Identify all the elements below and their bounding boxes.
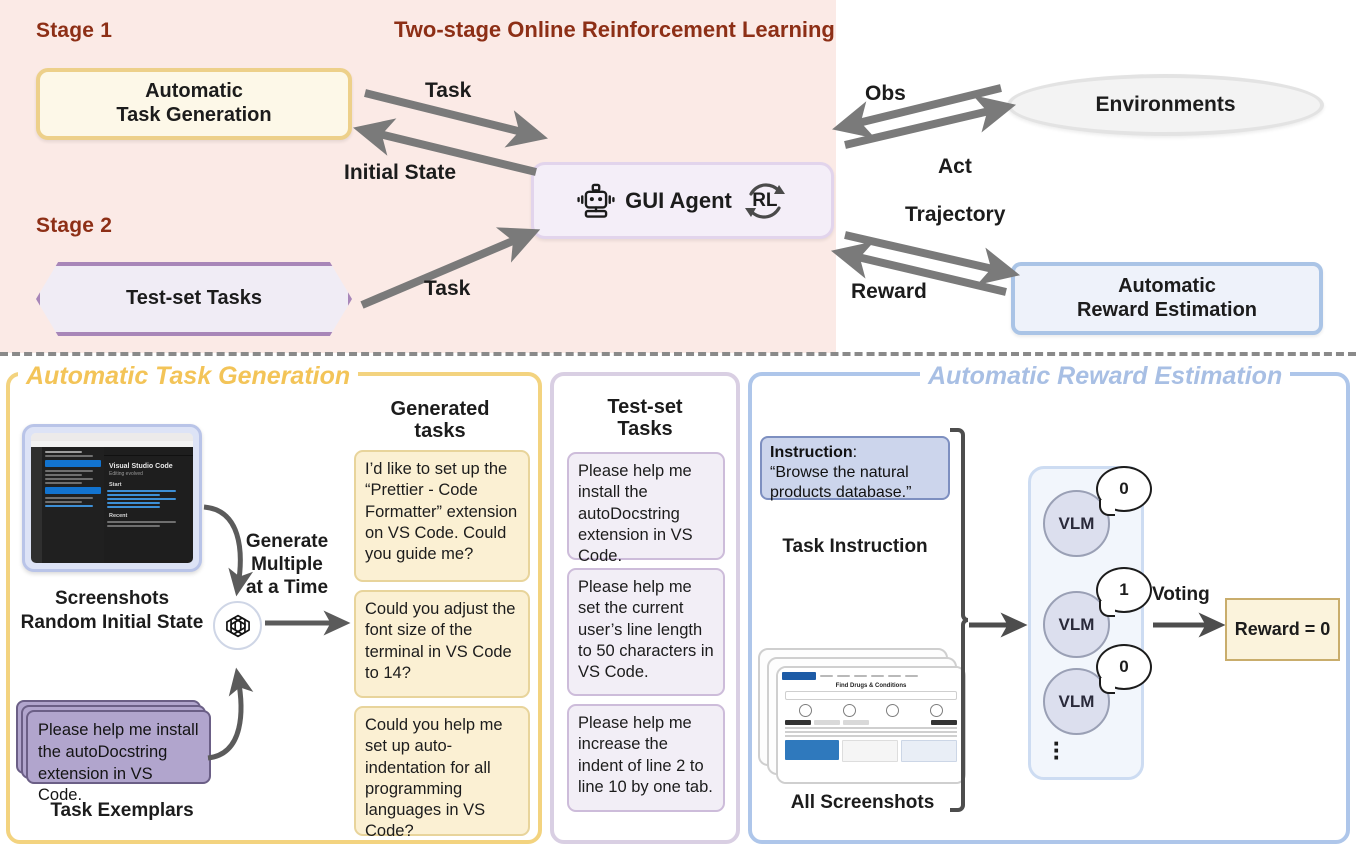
vlm-label-2: VLM (1059, 615, 1095, 635)
drugs-heading: Find Drugs & Conditions (782, 683, 960, 689)
generate-multiple-label: Generate Multiple at a Time (232, 530, 342, 600)
drugs-site-mock: Find Drugs & Conditions (778, 668, 964, 782)
top-section-title: Two-stage Online Reinforcement Learning (394, 17, 835, 43)
test-set-task-card-2[interactable]: Please help me set the current user’s li… (567, 568, 725, 696)
generated-task-card-3[interactable]: Could you help me set up auto-indentatio… (354, 706, 530, 836)
panel-atg-title: Automatic Task Generation (18, 362, 358, 391)
generated-head-line1: Generated (355, 398, 525, 420)
vlm-vote-2: 1 (1119, 580, 1128, 600)
node-atg-line1: Automatic (116, 80, 271, 104)
vscode-subheading: Editing evolved (109, 471, 193, 477)
vlm-label-1: VLM (1059, 514, 1095, 534)
instruction-colon: : (853, 444, 857, 461)
reward-output-box: Reward = 0 (1225, 598, 1340, 661)
node-gui-agent-label: GUI Agent (625, 188, 732, 214)
node-automatic-reward-estimation[interactable]: Automatic Reward Estimation (1011, 262, 1323, 335)
generated-head-line2: tasks (355, 420, 525, 442)
drugs-search-input[interactable] (785, 691, 957, 700)
generated-task-card-1[interactable]: I’d like to set up the “Prettier - Code … (354, 450, 530, 582)
vlm-label-3: VLM (1059, 692, 1095, 712)
edge-label-obs: Obs (865, 82, 906, 106)
instruction-text: “Browse the natural products database.” (770, 464, 911, 501)
task-instruction-label: Task Instruction (755, 536, 955, 558)
vscode-heading: Visual Studio Code (109, 463, 193, 470)
stage-1-label: Stage 1 (36, 19, 112, 43)
vscode-body: Visual Studio Code Editing evolved Start… (31, 447, 193, 563)
top-section: Stage 1 Stage 2 Two-stage Online Reinfor… (0, 0, 1356, 353)
node-automatic-task-generation[interactable]: Automatic Task Generation (36, 68, 352, 140)
node-gui-agent[interactable]: GUI Agent RL (531, 162, 834, 239)
reward-output-label: Reward = 0 (1235, 619, 1331, 640)
screenshot-card-front: Find Drugs & Conditions (776, 666, 966, 784)
instruction-prefix: Instruction (770, 444, 853, 461)
edge-label-act: Act (938, 155, 972, 179)
vscode-sidebar (42, 447, 104, 563)
vlm-more-ellipsis: ··· (1052, 740, 1062, 761)
task-exemplars-stack[interactable]: Please help me install the autoDocstring… (16, 700, 211, 784)
vscode-activity-bar (31, 447, 42, 563)
drugs-brand-logo (782, 672, 816, 680)
testset-head-line2: Tasks (560, 418, 730, 440)
robot-icon (574, 179, 618, 223)
section-divider (0, 352, 1356, 356)
test-set-task-card-3[interactable]: Please help me increase the indent of li… (567, 704, 725, 812)
vscode-start-label: Start (109, 482, 193, 488)
edge-label-task-from-testset: Task (424, 277, 470, 301)
test-set-tasks-heading: Test-set Tasks (560, 396, 730, 441)
node-are-line2: Reward Estimation (1077, 299, 1257, 323)
generate-label-line1: Generate (232, 530, 342, 553)
openai-logo-icon (213, 601, 262, 650)
node-are-line1: Automatic (1077, 275, 1257, 299)
edge-label-reward: Reward (851, 280, 927, 304)
edge-label-task-from-generation: Task (425, 79, 471, 103)
instruction-box[interactable]: Instruction: “Browse the natural product… (760, 436, 950, 500)
node-test-set-tasks[interactable]: Test-set Tasks (36, 262, 352, 336)
exemplar-card-front: Please help me install the autoDocstring… (26, 710, 211, 784)
rl-badge-label: RL (752, 190, 777, 212)
node-environments[interactable]: Environments (1007, 74, 1324, 136)
edge-label-trajectory: Trajectory (905, 203, 1005, 227)
vlm-vote-3: 0 (1119, 657, 1128, 677)
task-exemplars-label: Task Exemplars (12, 800, 232, 822)
vscode-editor: Visual Studio Code Editing evolved Start… (104, 447, 193, 563)
voting-label: Voting (1152, 584, 1210, 606)
test-set-task-card-1[interactable]: Please help me install the autoDocstring… (567, 452, 725, 560)
all-screenshots-label: All Screenshots (755, 792, 970, 814)
screenshots-label: Screenshots (22, 588, 202, 610)
node-atg-line2: Task Generation (116, 104, 271, 128)
generated-task-card-2[interactable]: Could you adjust the font size of the te… (354, 590, 530, 698)
screenshots-sublabel: Random Initial State (2, 612, 222, 634)
stage-2-label: Stage 2 (36, 214, 112, 238)
vscode-mock: Visual Studio Code Editing evolved Start… (31, 433, 193, 563)
edge-label-initial-state: Initial State (344, 161, 456, 185)
vscode-screenshot-thumbnail[interactable]: Visual Studio Code Editing evolved Start… (22, 424, 202, 572)
rl-cycle-icon: RL (739, 175, 791, 227)
node-environments-label: Environments (1095, 93, 1235, 118)
vscode-titlebar (31, 433, 193, 441)
drugs-nav (820, 675, 960, 677)
testset-head-line1: Test-set (560, 396, 730, 418)
vlm-vote-1: 0 (1119, 479, 1128, 499)
vscode-recent-label: Recent (109, 513, 193, 519)
generated-tasks-heading: Generated tasks (355, 398, 525, 443)
node-test-set-tasks-label: Test-set Tasks (126, 287, 262, 311)
drugs-icon-row (784, 704, 958, 717)
generate-label-line3: at a Time (232, 576, 342, 599)
drugs-tabs (785, 720, 957, 725)
all-screenshots-stack[interactable]: Find Drugs & Conditions (758, 648, 973, 788)
generate-label-line2: Multiple (232, 553, 342, 576)
panel-are-title: Automatic Reward Estimation (920, 362, 1290, 391)
drugs-footer-banners (785, 740, 957, 762)
